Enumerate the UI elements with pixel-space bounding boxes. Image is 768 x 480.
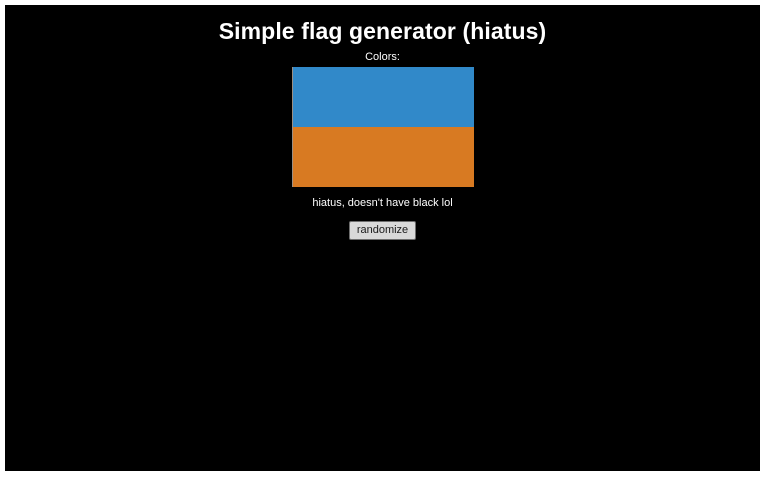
page-title: Simple flag generator (hiatus): [5, 5, 760, 45]
page-root: Simple flag generator (hiatus) Colors: h…: [5, 5, 760, 471]
flag-caption: hiatus, doesn't have black lol: [5, 187, 760, 210]
colors-label: Colors:: [5, 45, 760, 64]
flag-preview-image: [292, 67, 474, 187]
button-row: randomize: [5, 220, 760, 240]
flag-stripe-bottom: [293, 127, 474, 187]
randomize-button[interactable]: randomize: [349, 221, 416, 240]
flag-preview-container: [5, 67, 760, 187]
flag-stripe-top: [293, 67, 474, 127]
